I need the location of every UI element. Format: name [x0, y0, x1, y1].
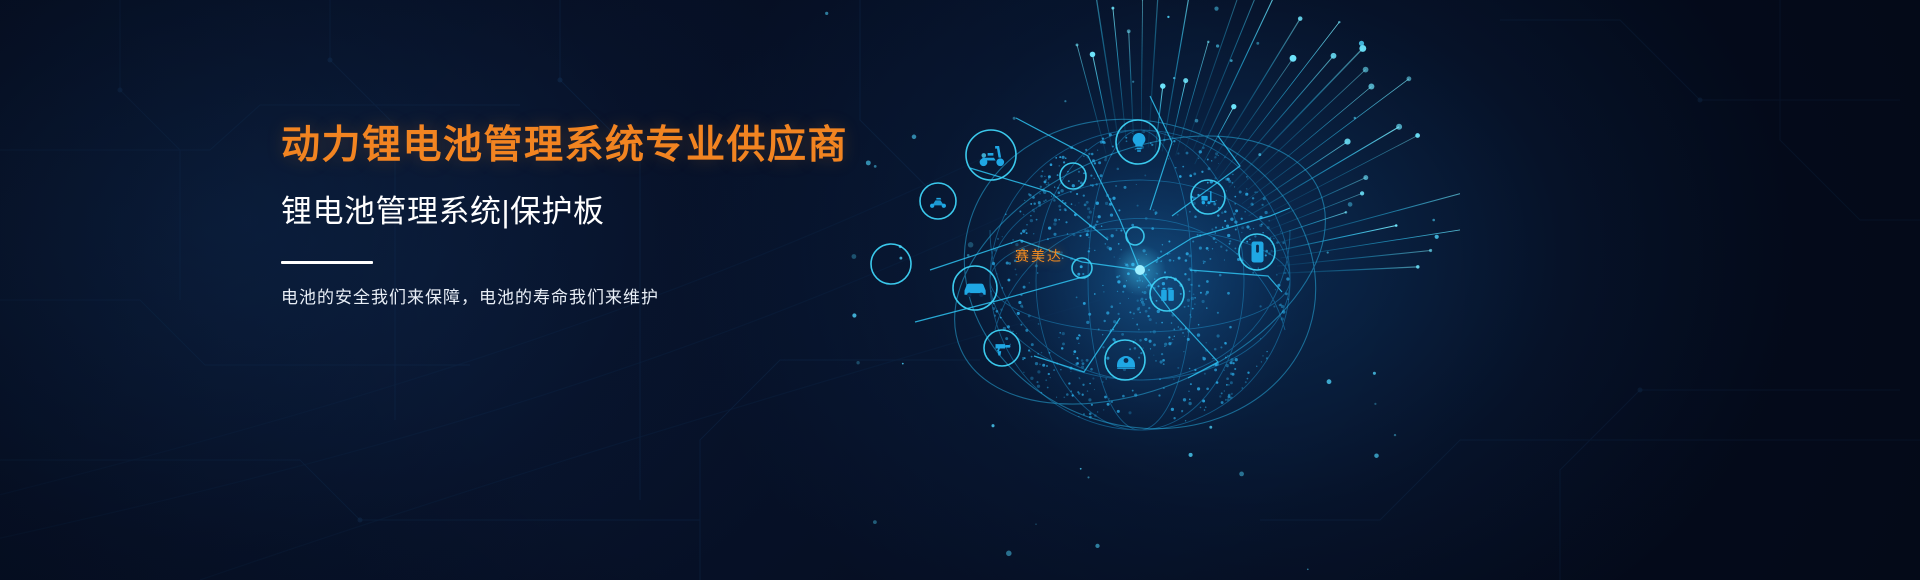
hero-banner: 赛美达 动力锂电池管理系统专业供应商 锂电池管理系统|保护板 电池的安全我们来保…	[0, 0, 1920, 580]
battery-pack-icon	[1158, 285, 1177, 304]
hero-text-block: 动力锂电池管理系统专业供应商 锂电池管理系统|保护板 电池的安全我们来保障，电池…	[281, 126, 1041, 306]
lightbulb-icon	[1128, 131, 1150, 153]
robot-vacuum-icon	[1114, 349, 1138, 373]
forklift-icon	[1199, 188, 1218, 207]
hero-tagline: 电池的安全我们来保障，电池的寿命我们来维护	[281, 264, 1041, 306]
page-title: 动力锂电池管理系统专业供应商	[281, 126, 1041, 165]
powerbank-icon	[1249, 240, 1266, 264]
drill-icon	[992, 338, 1013, 359]
hero-subheading: 锂电池管理系统|保护板	[281, 165, 1041, 227]
